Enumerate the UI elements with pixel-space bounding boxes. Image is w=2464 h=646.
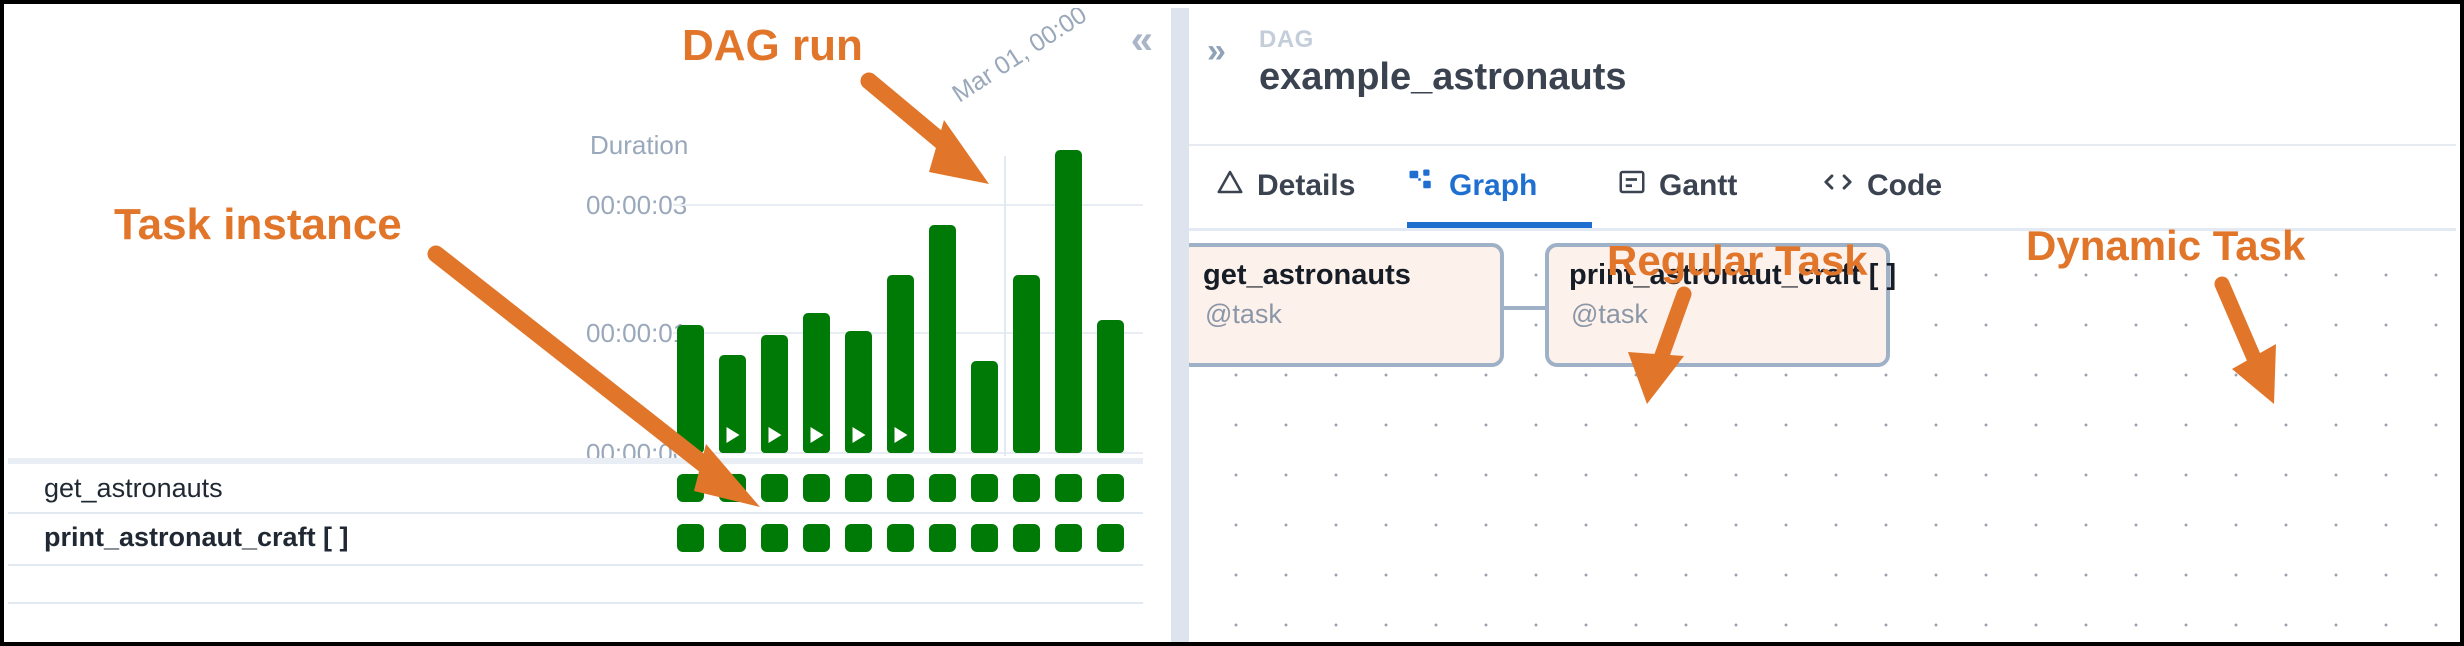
- arrow-task-instance: [436, 254, 760, 507]
- arrow-dynamic-task: [2222, 284, 2276, 404]
- arrow-regular-task: [1628, 294, 1684, 404]
- annotation-arrows: [4, 4, 2464, 646]
- arrow-dag-run: [869, 81, 989, 184]
- screenshot-frame: « Duration 00:00:03 00:00:01 00:00:00 Ma…: [0, 0, 2464, 646]
